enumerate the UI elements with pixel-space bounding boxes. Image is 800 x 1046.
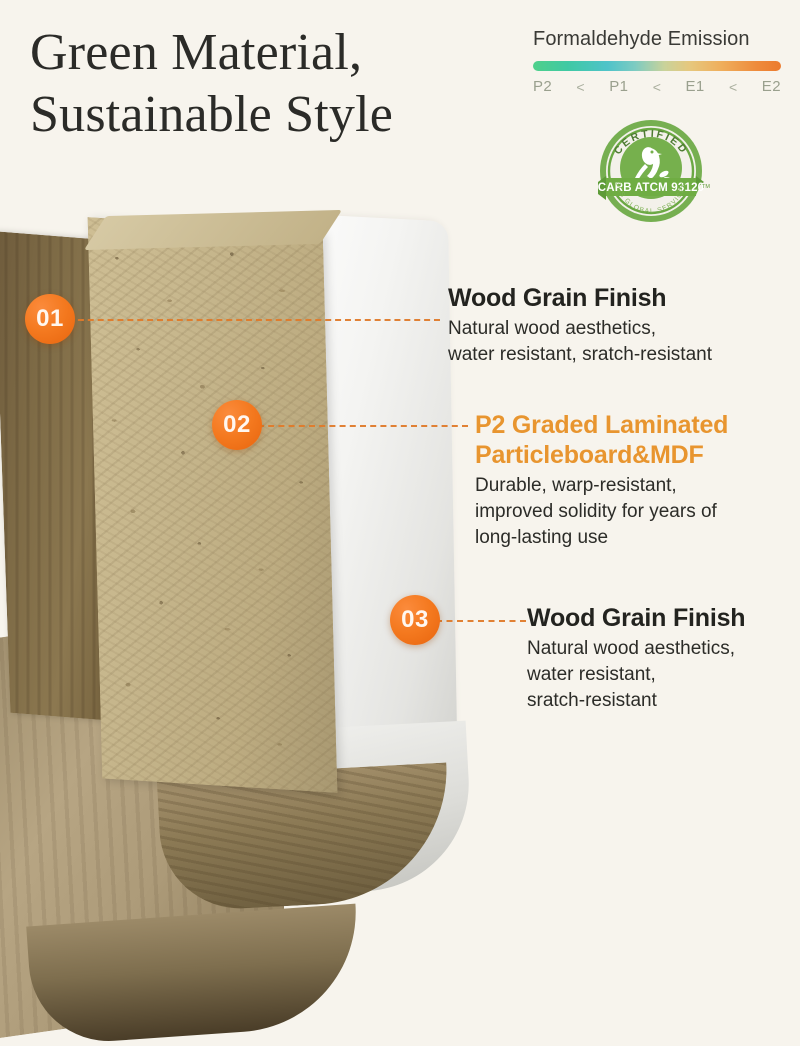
callout-02-body-line-2: improved solidity for years of — [475, 499, 795, 525]
emission-scale: P2 < P1 < E1 < E2 — [533, 78, 781, 95]
carb-seal-icon: CERTIFIED CARB ATCM 93120 SCS GLOBAL SER… — [592, 112, 710, 230]
particleboard-core — [88, 217, 338, 792]
callout-03-title: Wood Grain Finish — [527, 603, 792, 633]
headline-line-1: Green Material, — [30, 24, 362, 81]
callout-01-body: Natural wood aesthetics, water resistant… — [448, 316, 793, 368]
callout-block-02: P2 Graded Laminated Particleboard&MDF Du… — [475, 410, 795, 551]
callout-block-03: Wood Grain Finish Natural wood aesthetic… — [527, 603, 792, 714]
callout-02-title-line-1: P2 Graded Laminated — [475, 410, 795, 440]
headline-line-2: Sustainable Style — [30, 84, 550, 146]
callout-03-body: Natural wood aesthetics, water resistant… — [527, 636, 792, 714]
wood-veneer-curl — [26, 904, 364, 1046]
scale-label-e2: E2 — [762, 78, 781, 95]
callout-03-body-line-2: water resistant, — [527, 662, 792, 688]
callout-badge-02[interactable]: 02 — [212, 400, 262, 450]
scale-lt-1: < — [576, 79, 585, 95]
callout-03-body-line-1: Natural wood aesthetics, — [527, 636, 792, 662]
scale-lt-2: < — [653, 79, 662, 95]
particleboard-core-top-edge — [84, 210, 342, 250]
infographic-canvas: Green Material, Sustainable Style Formal… — [0, 0, 800, 800]
callout-badge-03[interactable]: 03 — [390, 595, 440, 645]
emission-gradient-bar — [533, 61, 781, 71]
page-title: Green Material, Sustainable Style — [30, 22, 550, 146]
connector-line-03 — [436, 620, 526, 622]
callout-03-body-line-3: sratch-resistant — [527, 688, 792, 714]
carb-certification-badge: CERTIFIED CARB ATCM 93120 SCS GLOBAL SER… — [592, 112, 710, 230]
callout-01-body-line-1: Natural wood aesthetics, — [448, 316, 793, 342]
emission-title: Formaldehyde Emission — [533, 28, 781, 51]
callout-02-body-line-3: long-lasting use — [475, 525, 795, 551]
seal-banner-text: CARB ATCM 93120 — [598, 182, 705, 194]
scale-label-p1: P1 — [609, 78, 628, 95]
callout-02-body-line-1: Durable, warp-resistant, — [475, 473, 795, 499]
connector-line-02 — [258, 425, 468, 427]
seal-trademark: TM — [702, 184, 710, 190]
callout-badge-01[interactable]: 01 — [25, 294, 75, 344]
callout-block-01: Wood Grain Finish Natural wood aesthetic… — [448, 283, 793, 368]
callout-02-title-line-2: Particleboard&MDF — [475, 440, 795, 470]
callout-01-body-line-2: water resistant, sratch-resistant — [448, 342, 793, 368]
scale-label-e1: E1 — [686, 78, 705, 95]
callout-02-body: Durable, warp-resistant, improved solidi… — [475, 473, 795, 551]
formaldehyde-emission-panel: Formaldehyde Emission P2 < P1 < E1 < E2 — [533, 28, 781, 95]
callout-01-title: Wood Grain Finish — [448, 283, 793, 313]
connector-line-01 — [68, 319, 440, 321]
scale-label-p2: P2 — [533, 78, 552, 95]
scale-lt-3: < — [729, 79, 738, 95]
